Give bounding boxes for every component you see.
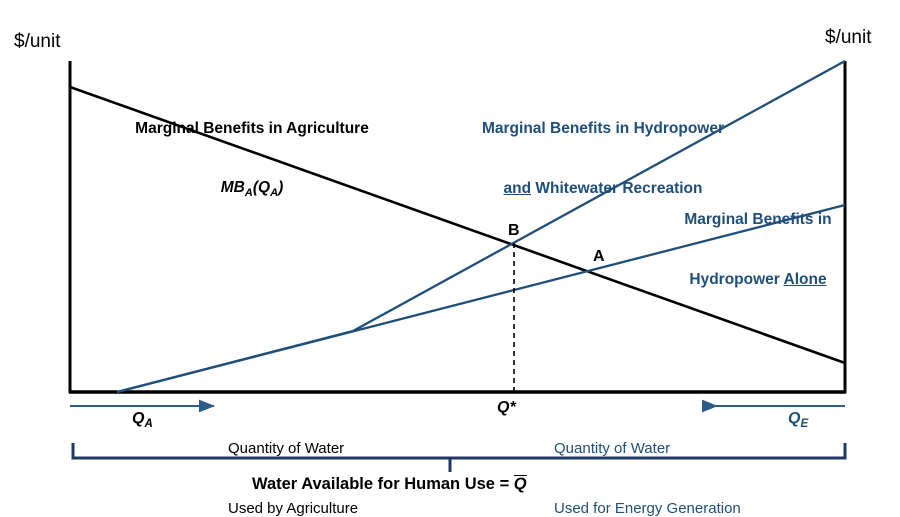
optimum-star: * bbox=[509, 399, 515, 416]
right-axis-unit-label: $/unit bbox=[825, 26, 871, 49]
qe-symbol-sub: E bbox=[800, 418, 808, 430]
hydropower-alone-caption: Marginal Benefits in Hydropower Alone bbox=[672, 173, 844, 327]
hydro-alone-underlined: Alone bbox=[784, 271, 827, 288]
qe-symbol-q: Q bbox=[788, 410, 800, 427]
mb-prefix: MB bbox=[221, 179, 245, 196]
optimum-q: Q bbox=[497, 399, 509, 416]
agriculture-axis-desc-line1: Quantity of Water bbox=[228, 439, 443, 459]
qa-symbol-sub: A bbox=[144, 418, 152, 430]
energy-axis-description: Quantity of Water Used for Energy Genera… bbox=[554, 398, 784, 517]
bracket-label-qbar: Q bbox=[514, 475, 527, 493]
mb-subscript-qa: A bbox=[270, 187, 278, 199]
agriculture-axis-description: Quantity of Water Used by Agriculture bbox=[228, 398, 443, 517]
energy-axis-desc-line1: Quantity of Water bbox=[554, 439, 784, 459]
optimum-quantity-label: Q* bbox=[497, 398, 516, 418]
hydro-alone-line2: Hydropower Alone bbox=[672, 271, 844, 290]
hydro-alone-line1: Marginal Benefits in bbox=[672, 211, 844, 230]
point-label-b: B bbox=[508, 221, 520, 241]
qa-symbol-label: QA bbox=[132, 409, 153, 431]
agriculture-function-label: MBA(QA) bbox=[122, 179, 382, 201]
hydro-rec-line1: Marginal Benefits in Hydropower bbox=[468, 120, 738, 139]
agriculture-caption-line1: Marginal Benefits in Agriculture bbox=[122, 120, 382, 139]
mb-open-paren: (Q bbox=[253, 179, 270, 196]
qe-symbol-label: QE bbox=[788, 409, 808, 431]
energy-axis-desc-line2: Used for Energy Generation bbox=[554, 499, 784, 517]
qa-symbol-q: Q bbox=[132, 410, 144, 427]
bracket-label-text: Water Available for Human Use = bbox=[252, 475, 514, 493]
left-axis-unit-label: $/unit bbox=[14, 30, 60, 53]
mb-close-paren: ) bbox=[278, 179, 283, 196]
hydro-alone-prefix: Hydropower bbox=[689, 271, 783, 288]
agriculture-curve-caption: Marginal Benefits in Agriculture MBA(QA) bbox=[122, 82, 382, 238]
diagram-canvas: $/unit $/unit Marginal Benefits in Agric… bbox=[0, 0, 900, 517]
total-water-bracket-label: Water Available for Human Use = Q bbox=[252, 474, 527, 494]
hydro-rec-and-underlined: and bbox=[504, 180, 532, 197]
mb-subscript-a: A bbox=[245, 187, 253, 199]
agriculture-axis-desc-line2: Used by Agriculture bbox=[228, 499, 443, 517]
point-label-a: A bbox=[593, 247, 605, 267]
